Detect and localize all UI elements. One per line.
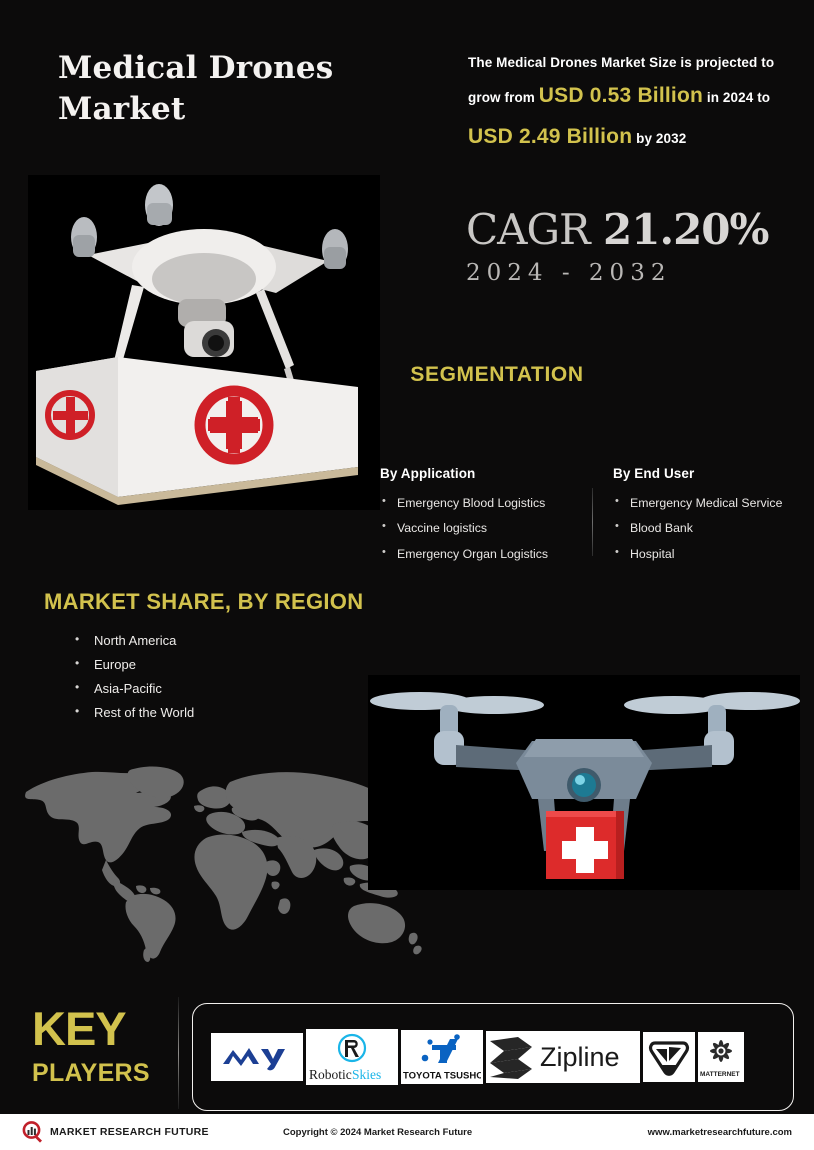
segmentation-column-heading: By End User <box>613 466 813 481</box>
market-research-future-logo-icon <box>22 1121 44 1143</box>
list-item: North America <box>72 629 194 653</box>
toyota-tsusho-logo: TOYOTA TSUSHO <box>401 1030 483 1084</box>
segmentation-list-application: Emergency Blood Logistics Vaccine logist… <box>380 491 590 567</box>
list-item: Asia-Pacific <box>72 677 194 701</box>
segmentation-column-application: By Application Emergency Blood Logistics… <box>380 466 590 567</box>
key-players-line2: PLAYERS <box>32 1058 172 1088</box>
market-size-headline: The Medical Drones Market Size is projec… <box>468 50 790 158</box>
headline-value-2024: USD 0.53 Billion <box>539 84 703 107</box>
svg-text:Skies: Skies <box>352 1067 381 1082</box>
headline-grow-from: grow from <box>468 90 535 105</box>
headline-in-year: in 2024 to <box>707 90 770 105</box>
key-players-logo-box: Robotic Skies TOYOTA TSUSHO <box>192 1003 794 1111</box>
list-item: Europe <box>72 653 194 677</box>
cagr-label: CAGR <box>466 205 590 254</box>
svg-text:TOYOTA TSUSHO: TOYOTA TSUSHO <box>403 1071 481 1082</box>
market-share-region-list: North America Europe Asia-Pacific Rest o… <box>72 629 194 725</box>
headline-value-2032: USD 2.49 Billion <box>468 125 632 148</box>
footer-url: www.marketresearchfuture.com <box>648 1127 792 1138</box>
segmentation-column-end-user: By End User Emergency Medical Service Bl… <box>613 466 813 567</box>
page-title: Medical Drones Market <box>58 48 438 130</box>
key-players-logo-row: Robotic Skies TOYOTA TSUSHO <box>193 1004 793 1110</box>
cagr-block: CAGR 21.20% 2024 - 2032 <box>466 205 796 286</box>
footer-bar: MARKET RESEARCH FUTURE Copyright © 2024 … <box>0 1114 814 1150</box>
avy-logo <box>211 1033 303 1081</box>
list-item: Emergency Medical Service <box>613 491 813 516</box>
svg-text:MATTERNET: MATTERNET <box>700 1071 740 1078</box>
segmentation-heading: SEGMENTATION <box>0 363 814 387</box>
segmentation-column-heading: By Application <box>380 466 590 481</box>
cagr-value: 21.20% <box>603 205 768 254</box>
key-players-divider <box>178 997 179 1109</box>
infographic-poster: Medical Drones Market The Medical Drones… <box>0 0 814 1150</box>
wing-logo <box>643 1032 695 1082</box>
key-players-line1: KEY <box>32 1006 172 1052</box>
key-players-label: KEY PLAYERS <box>32 1006 172 1088</box>
list-item: Vaccine logistics <box>380 516 590 541</box>
market-share-heading: MARKET SHARE, BY REGION <box>44 589 363 615</box>
matternet-logo: MATTERNET <box>698 1032 744 1082</box>
segmentation-list-end-user: Emergency Medical Service Blood Bank Hos… <box>613 491 813 567</box>
footer-copyright: Copyright © 2024 Market Research Future <box>283 1127 472 1138</box>
footer-brand-text: MARKET RESEARCH FUTURE <box>50 1126 209 1138</box>
list-item: Hospital <box>613 542 813 567</box>
footer-brand: MARKET RESEARCH FUTURE <box>22 1121 209 1143</box>
cagr-period: 2024 - 2032 <box>466 260 796 286</box>
svg-text:Robotic: Robotic <box>309 1067 352 1082</box>
list-item: Emergency Organ Logistics <box>380 542 590 567</box>
svg-text:Zipline: Zipline <box>540 1042 620 1072</box>
zipline-logo: Zipline <box>486 1031 640 1083</box>
robotic-skies-logo: Robotic Skies <box>306 1029 398 1085</box>
cagr-line: CAGR 21.20% <box>466 205 796 254</box>
medical-delivery-drone-photo <box>28 175 380 510</box>
headline-by-year: by 2032 <box>636 131 686 146</box>
segmentation-divider <box>592 488 593 556</box>
list-item: Emergency Blood Logistics <box>380 491 590 516</box>
list-item: Blood Bank <box>613 516 813 541</box>
headline-lead: The Medical Drones Market Size is projec… <box>468 55 774 70</box>
medical-drone-illustration <box>368 675 800 890</box>
list-item: Rest of the World <box>72 701 194 725</box>
